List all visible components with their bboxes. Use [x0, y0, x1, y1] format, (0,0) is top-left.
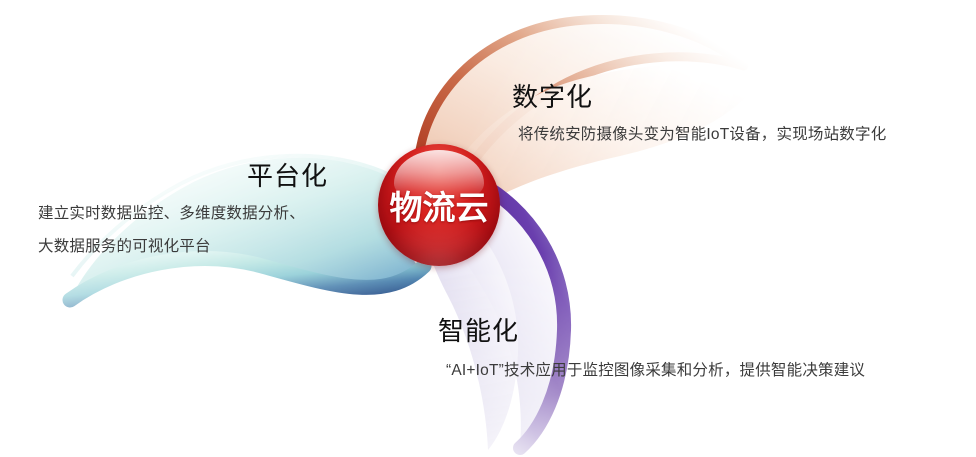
branch-intelligent: 智能化 “AI+IoT”技术应用于监控图像采集和分析，提供智能决策建议: [438, 316, 865, 381]
sphere-label: 物流云: [378, 144, 500, 266]
branch-platform-description-line1: 建立实时数据监控、多维度数据分析、: [38, 203, 338, 224]
branch-platform-description-line2: 大数据服务的可视化平台: [38, 236, 338, 257]
center-sphere: 物流云: [378, 144, 500, 266]
infographic-canvas: 物流云 数字化 将传统安防摄像头变为智能IoT设备，实现场站数字化 平台化 建立…: [0, 0, 976, 457]
branch-digital-description: 将传统安防摄像头变为智能IoT设备，实现场站数字化: [518, 124, 886, 145]
branch-intelligent-description: “AI+IoT”技术应用于监控图像采集和分析，提供智能决策建议: [446, 360, 865, 381]
branch-platform: 平台化 建立实时数据监控、多维度数据分析、 大数据服务的可视化平台: [38, 161, 338, 257]
branch-digital: 数字化 将传统安防摄像头变为智能IoT设备，实现场站数字化: [512, 82, 886, 145]
branch-digital-title: 数字化: [512, 82, 886, 112]
branch-platform-title: 平台化: [38, 161, 338, 191]
branch-intelligent-title: 智能化: [438, 316, 865, 346]
